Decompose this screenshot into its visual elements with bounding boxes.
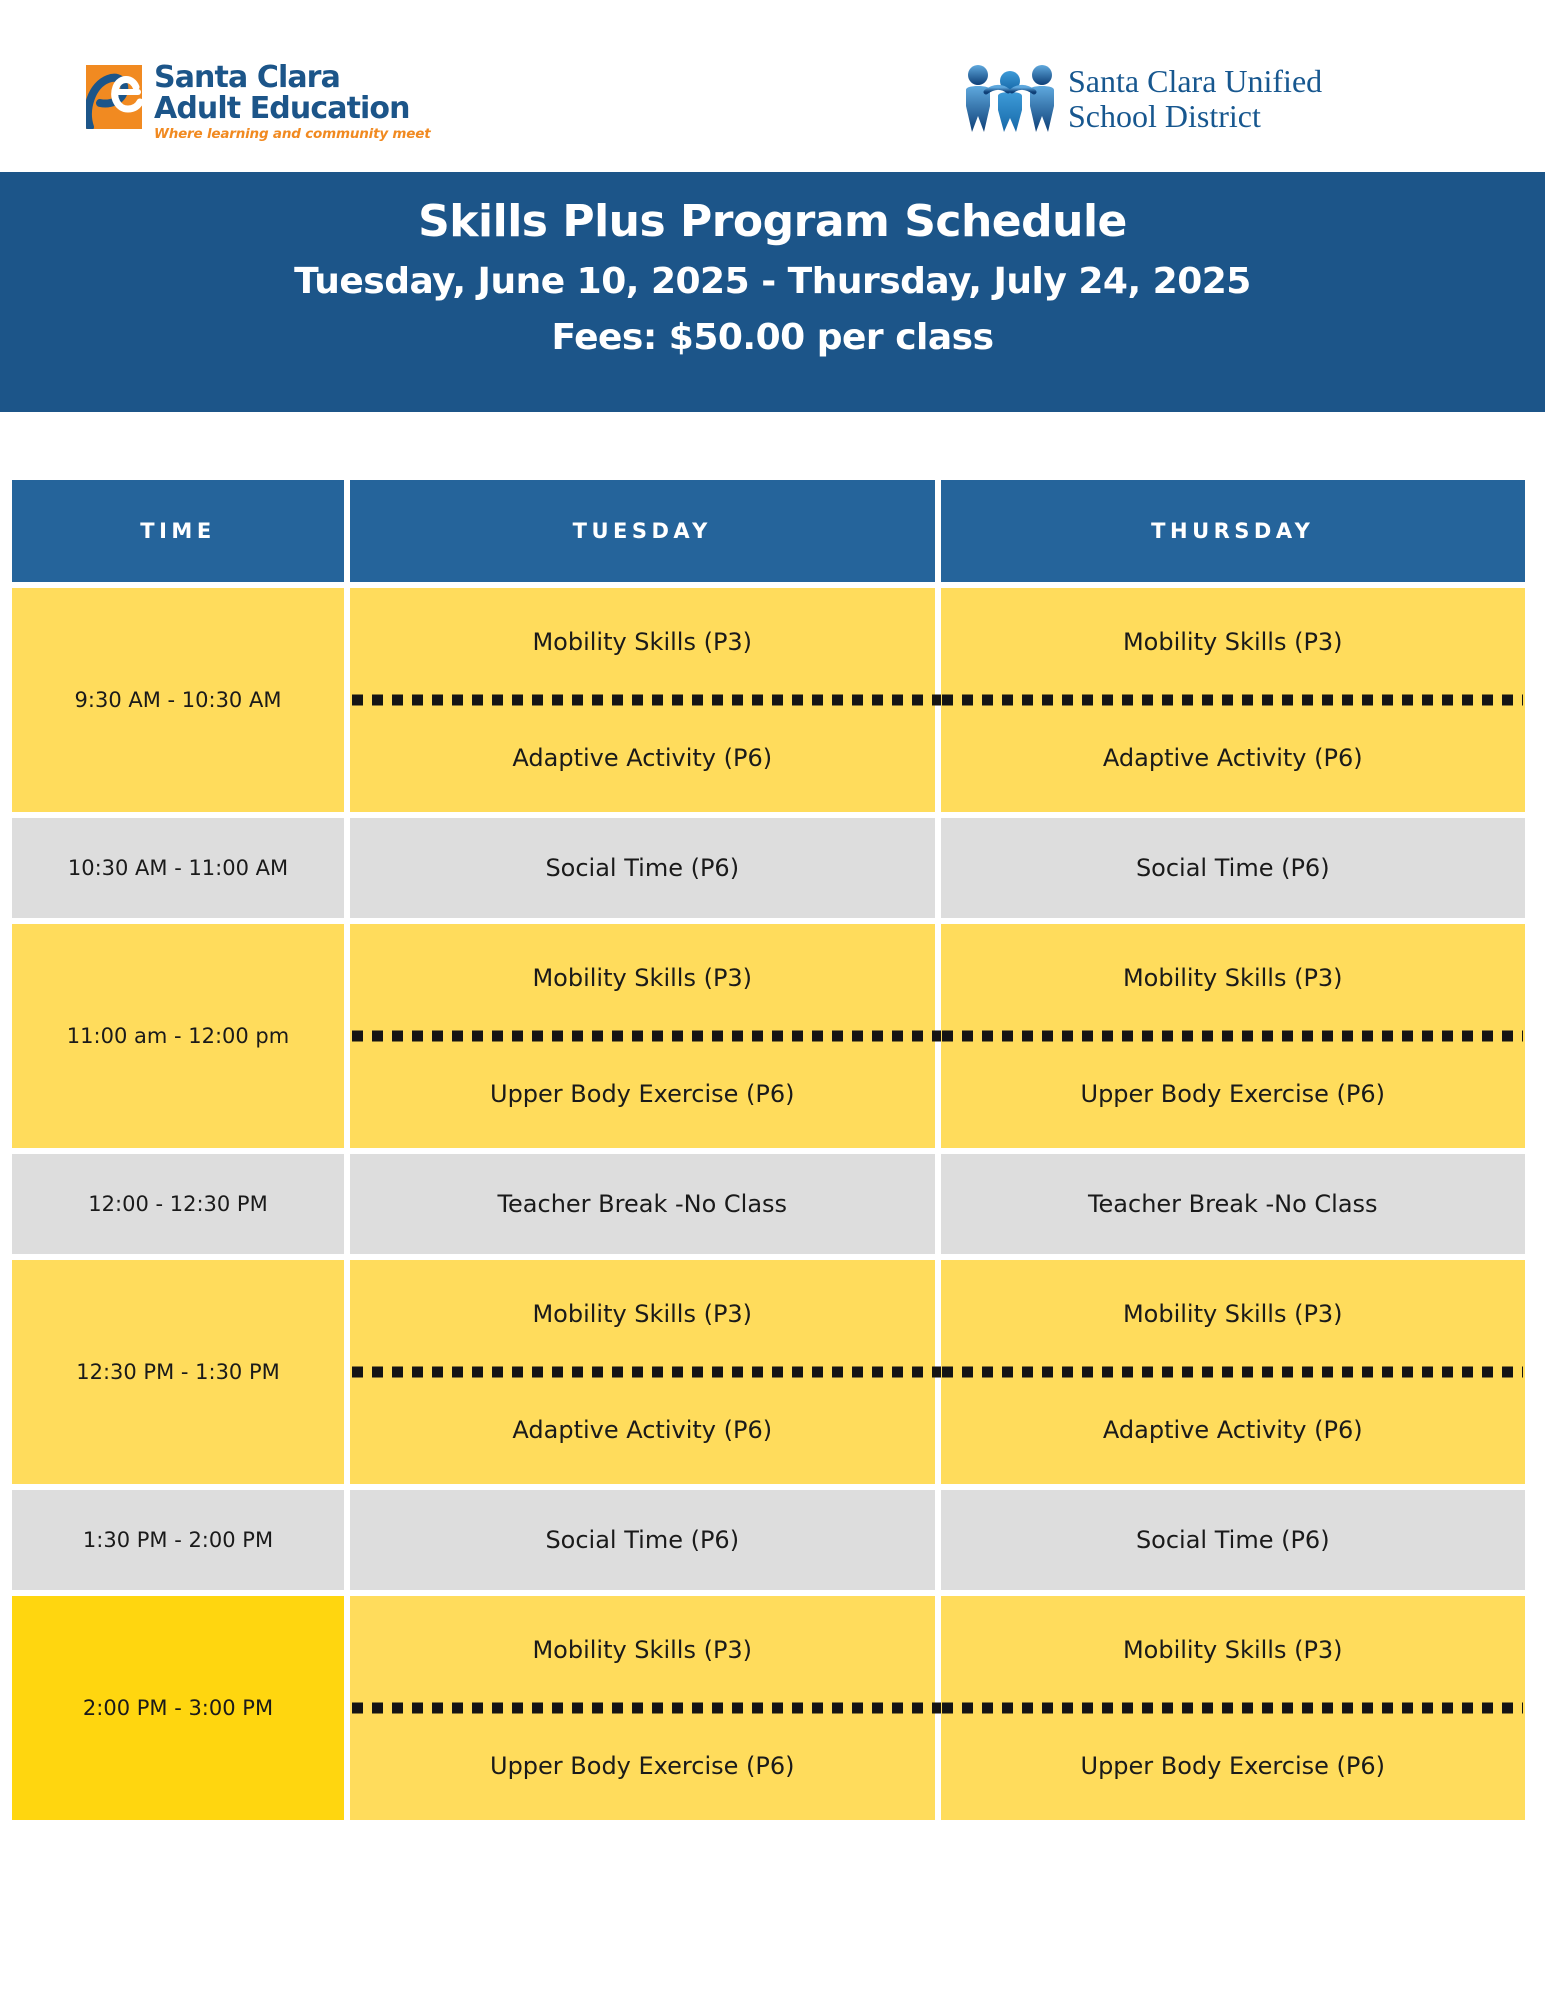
- school-district-logo-line2: School District: [1068, 99, 1322, 134]
- session-label: Mobility Skills (P3): [350, 1596, 935, 1708]
- table-row: 2:00 PM - 3:00 PM Mobility Skills (P3) U…: [12, 1596, 1525, 1820]
- table-row: 11:00 am - 12:00 pm Mobility Skills (P3)…: [12, 924, 1525, 1148]
- column-header-tuesday: TUESDAY: [350, 480, 935, 582]
- table-row: 12:00 - 12:30 PM Teacher Break -No Class…: [12, 1154, 1525, 1254]
- session-label: Adaptive Activity (P6): [941, 700, 1526, 812]
- table-row: 9:30 AM - 10:30 AM Mobility Skills (P3) …: [12, 588, 1525, 812]
- session-label: Mobility Skills (P3): [350, 588, 935, 700]
- santa-clara-unified-school-district-logo: Santa Clara Unified School District: [962, 62, 1322, 134]
- column-header-thursday: THURSDAY: [941, 480, 1526, 582]
- table-row: 10:30 AM - 11:00 AM Social Time (P6) Soc…: [12, 818, 1525, 918]
- table-header-row: TIME TUESDAY THURSDAY: [12, 480, 1525, 582]
- session-label: Upper Body Exercise (P6): [350, 1708, 935, 1820]
- session-label: Teacher Break -No Class: [1088, 1189, 1378, 1219]
- program-banner: Skills Plus Program Schedule Tuesday, Ju…: [0, 172, 1545, 412]
- session-label: Adaptive Activity (P6): [350, 1372, 935, 1484]
- thursday-cell: Social Time (P6): [941, 1490, 1526, 1590]
- logo-header-row: Santa Clara Adult Education Where learni…: [0, 0, 1545, 172]
- session-label: Social Time (P6): [545, 853, 739, 883]
- session-label: Mobility Skills (P3): [941, 924, 1526, 1036]
- tuesday-cell: Teacher Break -No Class: [350, 1154, 935, 1254]
- tuesday-cell: Mobility Skills (P3) Upper Body Exercise…: [350, 924, 935, 1148]
- tuesday-cell: Social Time (P6): [350, 1490, 935, 1590]
- time-cell: 10:30 AM - 11:00 AM: [12, 818, 344, 918]
- thursday-cell: Teacher Break -No Class: [941, 1154, 1526, 1254]
- thursday-cell: Mobility Skills (P3) Upper Body Exercise…: [941, 924, 1526, 1148]
- thursday-cell: Mobility Skills (P3) Upper Body Exercise…: [941, 1596, 1526, 1820]
- time-cell: 12:30 PM - 1:30 PM: [12, 1260, 344, 1484]
- tuesday-cell: Mobility Skills (P3) Adaptive Activity (…: [350, 588, 935, 812]
- time-cell: 12:00 - 12:30 PM: [12, 1154, 344, 1254]
- program-dates: Tuesday, June 10, 2025 - Thursday, July …: [0, 254, 1545, 310]
- adult-education-logo-line1: Santa Clara: [154, 62, 430, 93]
- session-label: Mobility Skills (P3): [350, 924, 935, 1036]
- time-cell: 1:30 PM - 2:00 PM: [12, 1490, 344, 1590]
- time-cell: 11:00 am - 12:00 pm: [12, 924, 344, 1148]
- session-label: Mobility Skills (P3): [350, 1260, 935, 1372]
- thursday-cell: Mobility Skills (P3) Adaptive Activity (…: [941, 1260, 1526, 1484]
- session-label: Upper Body Exercise (P6): [941, 1036, 1526, 1148]
- session-label: Social Time (P6): [545, 1525, 739, 1555]
- session-label: Upper Body Exercise (P6): [941, 1708, 1526, 1820]
- three-people-icon: [962, 62, 1058, 134]
- ae-monogram-icon: [86, 65, 142, 129]
- thursday-cell: Social Time (P6): [941, 818, 1526, 918]
- tuesday-cell: Mobility Skills (P3) Upper Body Exercise…: [350, 1596, 935, 1820]
- time-cell: 2:00 PM - 3:00 PM: [12, 1596, 344, 1820]
- session-label: Upper Body Exercise (P6): [350, 1036, 935, 1148]
- session-label: Mobility Skills (P3): [941, 1596, 1526, 1708]
- tuesday-cell: Social Time (P6): [350, 818, 935, 918]
- session-label: Adaptive Activity (P6): [350, 700, 935, 812]
- page-title: Skills Plus Program Schedule: [0, 190, 1545, 254]
- session-label: Social Time (P6): [1136, 853, 1330, 883]
- time-cell: 9:30 AM - 10:30 AM: [12, 588, 344, 812]
- session-label: Mobility Skills (P3): [941, 1260, 1526, 1372]
- adult-education-logo-line2: Adult Education: [154, 93, 430, 124]
- tuesday-cell: Mobility Skills (P3) Adaptive Activity (…: [350, 1260, 935, 1484]
- table-row: 1:30 PM - 2:00 PM Social Time (P6) Socia…: [12, 1490, 1525, 1590]
- session-label: Social Time (P6): [1136, 1525, 1330, 1555]
- school-district-logo-line1: Santa Clara Unified: [1068, 64, 1322, 99]
- table-row: 12:30 PM - 1:30 PM Mobility Skills (P3) …: [12, 1260, 1525, 1484]
- session-label: Teacher Break -No Class: [497, 1189, 787, 1219]
- session-label: Adaptive Activity (P6): [941, 1372, 1526, 1484]
- program-fees: Fees: $50.00 per class: [0, 310, 1545, 366]
- santa-clara-adult-education-logo: Santa Clara Adult Education Where learni…: [86, 62, 430, 143]
- schedule-table: TIME TUESDAY THURSDAY 9:30 AM - 10:30 AM…: [12, 480, 1525, 1820]
- thursday-cell: Mobility Skills (P3) Adaptive Activity (…: [941, 588, 1526, 812]
- session-label: Mobility Skills (P3): [941, 588, 1526, 700]
- column-header-time: TIME: [12, 480, 344, 582]
- adult-education-tagline: Where learning and community meet: [154, 125, 430, 143]
